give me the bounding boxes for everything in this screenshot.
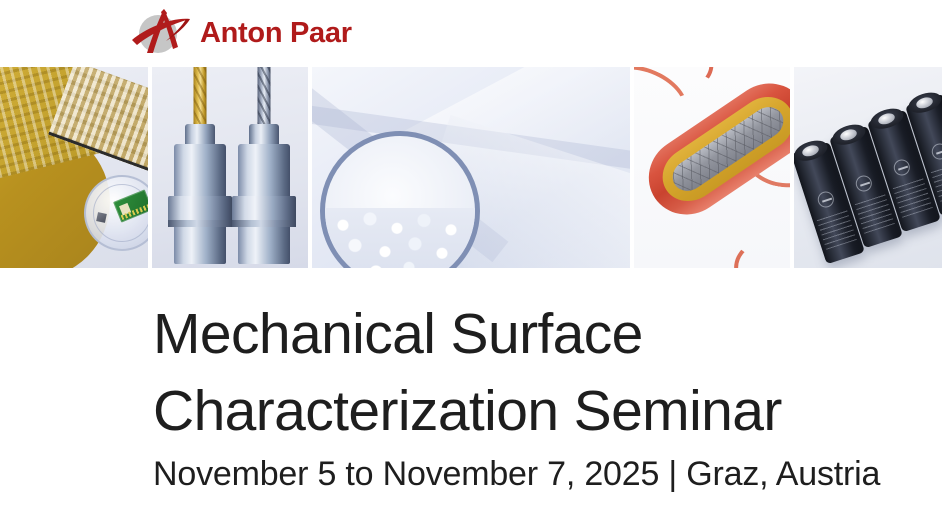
panel-arterial-stent [634,67,790,268]
brand-logo[interactable]: Anton Paar [128,2,328,64]
panel-polymer-pellets [312,67,630,268]
panel-semiconductor-wafers [0,67,148,268]
event-banner-page: Anton Paar [0,0,942,532]
battery-polarity-mark [930,141,942,161]
panel-cutting-tools [152,67,308,268]
battery-polarity-mark [892,157,912,177]
tool-collar [185,124,215,146]
tool-holder-carbide [238,144,290,264]
event-title-line-1: Mechanical Surface [153,296,893,373]
battery-polarity-mark [854,173,874,193]
battery-label [816,208,857,250]
tool-holder-body [238,144,290,264]
brand-name: Anton Paar [200,19,352,48]
event-date-location: November 5 to November 7, 2025 | Graz, A… [153,452,893,496]
micro-chip [96,212,107,223]
tool-holder-body [174,144,226,264]
panel-batteries [794,67,942,268]
battery-label [854,192,895,234]
battery-label [892,176,933,218]
milling-cutter-gold-coated [194,67,207,126]
event-title-line-2: Characterization Seminar [153,373,893,450]
tool-collar [249,124,279,146]
battery-polarity-mark [816,189,836,209]
banner-image-strip [0,67,942,268]
tool-holder-gold [174,144,226,264]
anton-paar-orbit-logo-icon [128,3,196,63]
event-title: Mechanical Surface Characterization Semi… [153,296,893,450]
polymer-pellets [325,208,475,268]
milling-cutter-carbide [258,67,271,126]
